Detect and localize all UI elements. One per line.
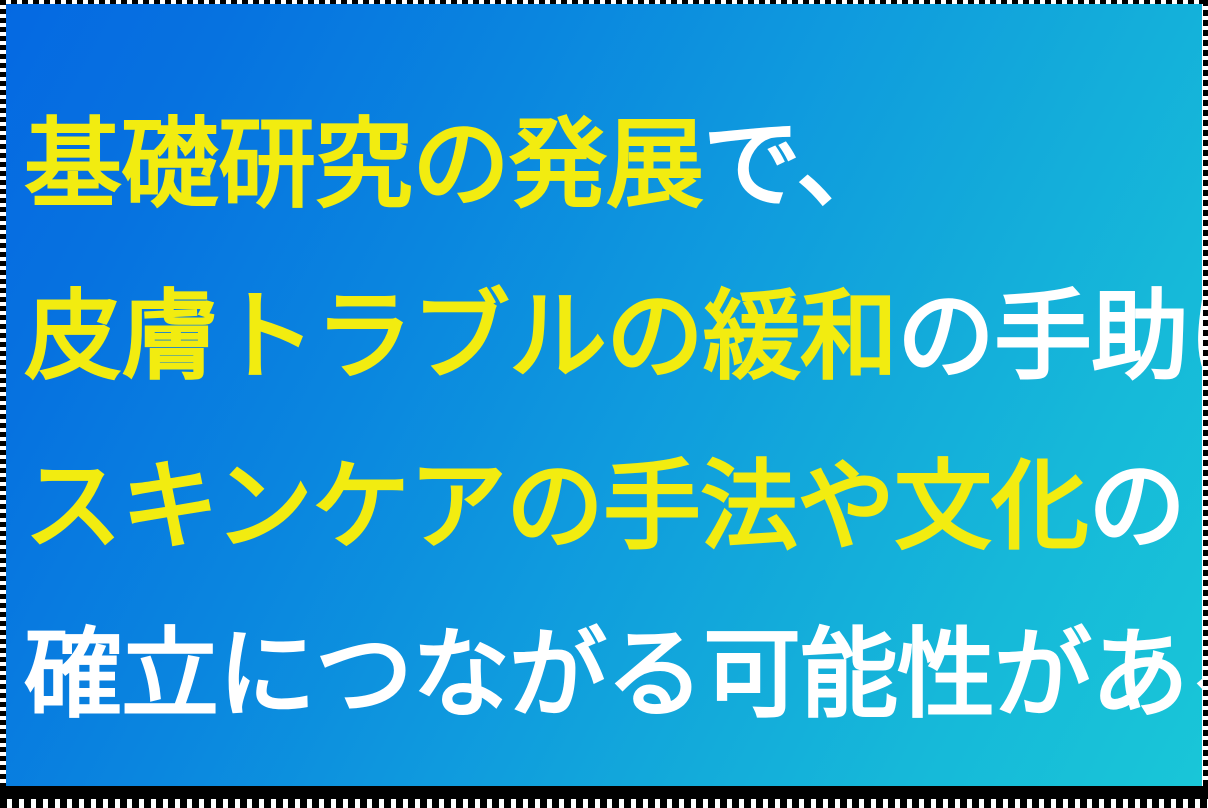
border-bottom-solid <box>0 786 1208 800</box>
headline-line-2: 皮膚トラブルの緩和の手助け <box>24 264 1190 410</box>
headline-line-1: 基礎研究の発展で、 <box>24 92 1190 238</box>
headline-line-1-body: で、 <box>703 108 893 222</box>
headline-line-1-highlight: 基礎研究の発展 <box>24 108 703 222</box>
border-right-dashed <box>1203 0 1208 794</box>
headline-line-3-body: の <box>1088 450 1185 564</box>
headline-line-3: スキンケアの手法や文化の <box>24 434 1190 580</box>
headline-line-4-body: 確立につながる可能性がある！ <box>24 618 1202 732</box>
slide-canvas: 基礎研究の発展で、 皮膚トラブルの緩和の手助け スキンケアの手法や文化の 確立に… <box>6 4 1202 786</box>
border-bottom-dashed <box>0 799 1208 808</box>
headline-line-2-highlight: 皮膚トラブルの緩和 <box>24 280 897 394</box>
banner-root: 基礎研究の発展で、 皮膚トラブルの緩和の手助け スキンケアの手法や文化の 確立に… <box>0 0 1208 808</box>
headline-text-block: 基礎研究の発展で、 皮膚トラブルの緩和の手助け スキンケアの手法や文化の 確立に… <box>24 92 1190 748</box>
headline-line-2-body: の手助け <box>897 280 1202 394</box>
headline-line-3-highlight: スキンケアの手法や文化 <box>24 450 1088 564</box>
headline-line-4: 確立につながる可能性がある！ <box>24 602 1190 748</box>
